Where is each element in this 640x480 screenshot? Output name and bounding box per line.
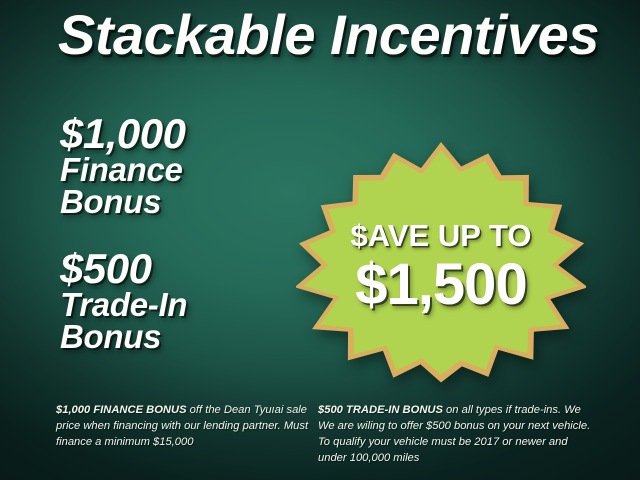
- offer-finance-amount: $1,000: [60, 113, 185, 154]
- offer-tradein-bonus: $500 Trade-In Bonus: [60, 248, 187, 354]
- page-title: Stackable Incentives: [58, 2, 599, 67]
- fineprint-tradein: $500 TRADE-IN BONUS on all types if trad…: [318, 403, 596, 467]
- fineprint-finance-strong: $1,000 FINANCE BONUS: [56, 404, 187, 416]
- starburst-badge-shape: [296, 140, 586, 390]
- fineprint-tradein-strong: $500 TRADE-IN BONUS: [318, 404, 443, 416]
- offer-finance-line2: Bonus: [60, 186, 185, 218]
- offer-tradein-line1: Trade-In: [60, 289, 187, 321]
- offer-finance-bonus: $1,000 Finance Bonus: [60, 113, 185, 219]
- starburst-inner-star: [304, 150, 579, 375]
- offer-finance-line1: Finance: [60, 154, 185, 186]
- fineprint-finance: $1,000 FINANCE BONUS off the Dean Tyuıai…: [56, 403, 314, 451]
- offer-tradein-line2: Bonus: [60, 321, 187, 353]
- offer-tradein-amount: $500: [60, 248, 187, 289]
- advertisement-canvas: Stackable Incentives $1,000 Finance Bonu…: [0, 0, 640, 480]
